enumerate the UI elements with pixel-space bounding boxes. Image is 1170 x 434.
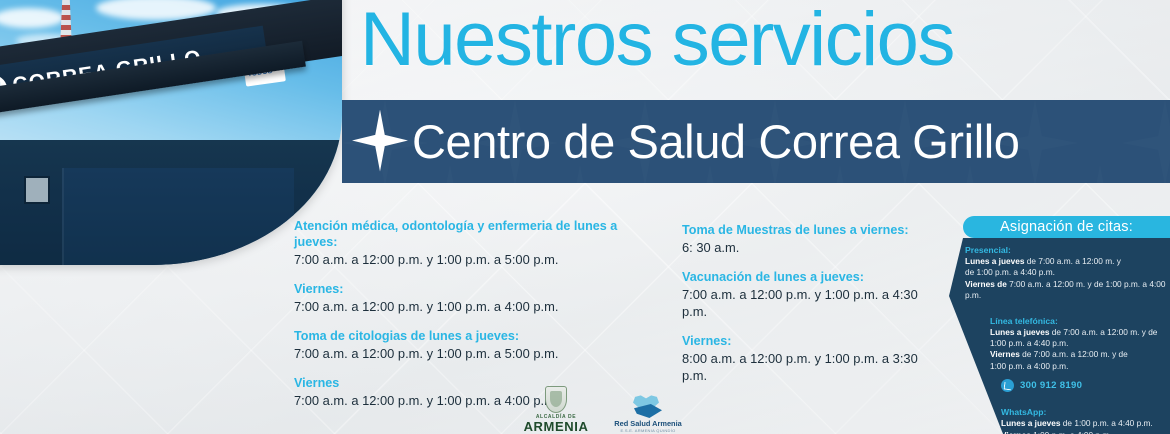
- appointments-telefonica-line1: Lunes a jueves de 7:00 a.m. a 12:00 m. y…: [990, 327, 1170, 338]
- appointments-telefonica-group: Línea telefónica: Lunes a jueves de 7:00…: [990, 315, 1170, 373]
- crest-icon: [545, 386, 567, 413]
- appointments-whatsapp-heading: WhatsApp:: [1001, 406, 1170, 418]
- bold-day-label: Lunes a jueves: [990, 327, 1050, 337]
- appointments-whatsapp-line1: Lunes a jueves de 1:00 p.m. a 4:40 p.m.: [1001, 418, 1170, 429]
- bold-day-label: Lunes a jueves: [1001, 418, 1061, 428]
- poster-canvas: CORREA GRILLO ESDA TODOS Nuestros servic…: [0, 0, 1170, 434]
- appointments-presencial-line1: Lunes a jueves de 7:00 a.m. a 12:00 m. y: [965, 256, 1170, 267]
- appointments-presencial-line2: de 1:00 p.m. a 4:40 p.m.: [965, 267, 1170, 278]
- service-value: 6: 30 a.m.: [682, 239, 944, 256]
- line-text: de 7:00 a.m. a 12:00 m. y de: [1020, 349, 1128, 359]
- service-value: 7:00 a.m. a 12:00 p.m. y 1:00 p.m. a 4:3…: [682, 286, 944, 320]
- alcaldia-name: ARMENIA: [520, 420, 592, 434]
- line-text: de 1:00 p.m. a 4:40 p.m.: [1061, 418, 1153, 428]
- red-salud-logo: Red Salud Armenia E.S.E. ARMENIA QUINDÍO: [606, 395, 690, 434]
- red-salud-name: Red Salud Armenia: [606, 420, 690, 428]
- bold-day-label: Viernes de: [965, 279, 1007, 289]
- appointments-presencial-heading: Presencial:: [965, 244, 1170, 256]
- phone-number[interactable]: 300 912 8190: [1020, 380, 1082, 391]
- phone-icon: [1001, 379, 1014, 392]
- building-window: [24, 176, 50, 204]
- services-column-left: Atención médica, odontología y enfermeri…: [294, 218, 662, 409]
- line-text: de 7:00 a.m. a 12:00 m. y de: [1050, 327, 1158, 337]
- line-text: de 7:00 a.m. a 12:00 m. y: [1025, 256, 1121, 266]
- red-salud-sublabel: E.S.E. ARMENIA QUINDÍO: [606, 428, 690, 434]
- facility-photo: CORREA GRILLO ESDA TODOS: [0, 0, 342, 265]
- service-heading: Toma de citologias de lunes a jueves:: [294, 328, 662, 344]
- appointments-whatsapp-group: WhatsApp: Lunes a jueves de 1:00 p.m. a …: [1001, 406, 1170, 434]
- appointments-title: Asignación de citas:: [1000, 219, 1133, 235]
- appointments-whatsapp-line2: Viernes 1:00 p.m. a 4:00 p.m.: [1001, 430, 1170, 434]
- sparkle-icon: [352, 110, 408, 172]
- bold-day-label: Viernes: [990, 349, 1020, 359]
- building-shutter: [62, 168, 294, 265]
- service-heading: Vacunación de lunes a jueves:: [682, 269, 944, 285]
- service-value: 7:00 a.m. a 12:00 p.m. y 1:00 p.m. a 4:0…: [294, 298, 662, 315]
- heart-dove-icon: [629, 395, 667, 419]
- appointments-telefonica-line4: 1:00 p.m. a 4:00 p.m.: [990, 361, 1170, 372]
- appointments-header-pill: Asignación de citas:: [963, 216, 1170, 238]
- service-value: 8:00 a.m. a 12:00 p.m. y 1:00 p.m. a 3:3…: [682, 350, 944, 384]
- footer-logos: ALCALDÍA DE ARMENIA Red Salud Armenia E.…: [520, 392, 690, 434]
- appointments-telefonica-line2: 1:00 p.m. a 4:40 p.m.: [990, 338, 1170, 349]
- service-value: 7:00 a.m. a 12:00 p.m. y 1:00 p.m. a 5:0…: [294, 251, 662, 268]
- bold-day-label: Viernes: [1001, 430, 1031, 434]
- appointments-telefonica-heading: Línea telefónica:: [990, 315, 1170, 327]
- service-heading: Viernes:: [294, 281, 662, 297]
- services-column-right: Toma de Muestras de lunes a viernes: 6: …: [682, 222, 944, 384]
- service-heading: Toma de Muestras de lunes a viernes:: [682, 222, 944, 238]
- appointments-presencial-line3: Viernes de 7:00 a.m. a 12:00 m. y de 1:0…: [965, 279, 1170, 302]
- page-title: Nuestros servicios: [360, 0, 954, 83]
- service-heading: Atención médica, odontología y enfermeri…: [294, 218, 662, 250]
- line-text: 1:00 p.m. a 4:00 p.m.: [1031, 430, 1112, 434]
- phone-contact-row[interactable]: 300 912 8190: [1001, 379, 1170, 392]
- bold-day-label: Lunes a jueves: [965, 256, 1025, 266]
- service-value: 7:00 a.m. a 12:00 p.m. y 1:00 p.m. a 5:0…: [294, 345, 662, 362]
- appointments-telefonica-line3: Viernes de 7:00 a.m. a 12:00 m. y de: [990, 349, 1170, 360]
- title-banner: Centro de Salud Correa Grillo: [342, 100, 1170, 183]
- banner-title: Centro de Salud Correa Grillo: [412, 114, 1020, 169]
- service-heading: Viernes:: [682, 333, 944, 349]
- service-heading: Viernes: [294, 375, 662, 391]
- alcaldia-logo: ALCALDÍA DE ARMENIA: [520, 386, 592, 434]
